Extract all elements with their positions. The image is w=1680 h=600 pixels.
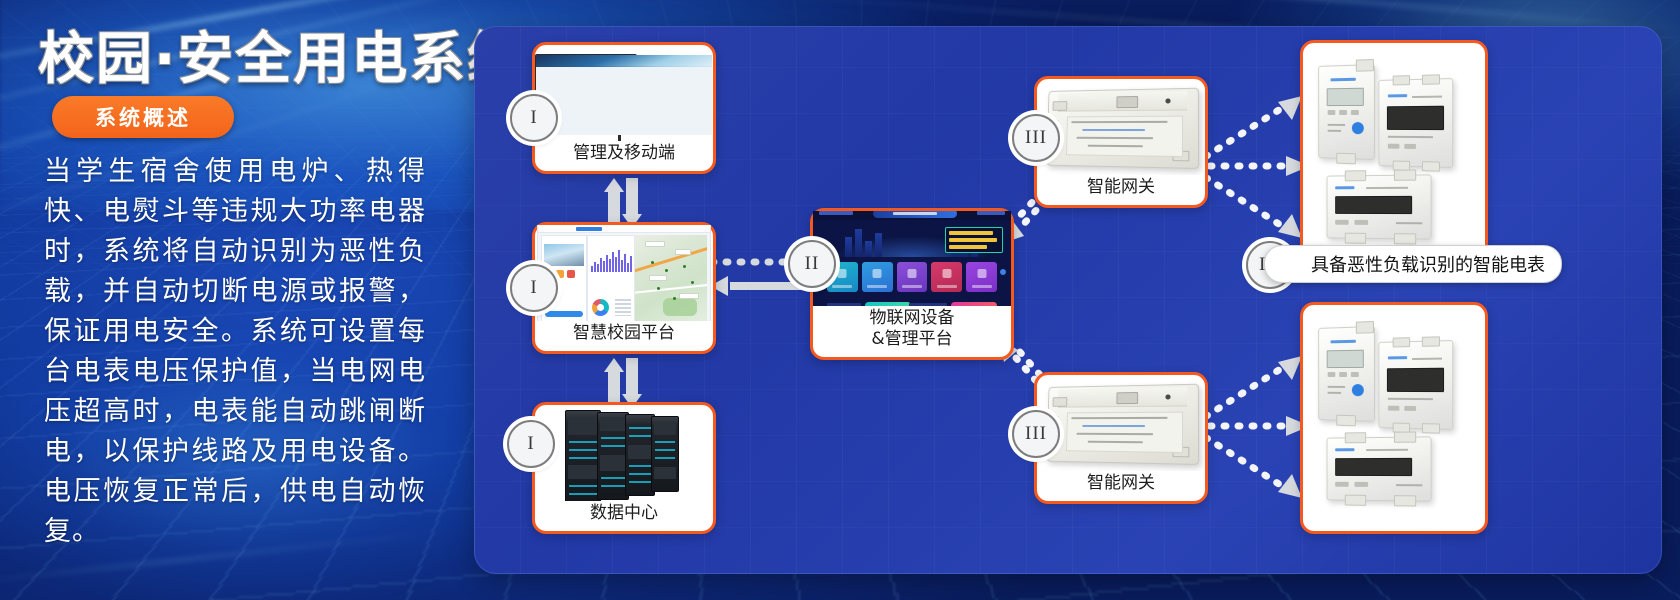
intro-panel: 校园·安全用电系统 系统概述 当学生宿舍使用电炉、热得快、电熨斗等违规大功率电器… xyxy=(0,0,470,600)
node-smart-campus-platform[interactable]: 智慧校园平台 xyxy=(532,222,716,354)
smart-meters-top-thumbnail xyxy=(1303,43,1485,269)
marker-data-center: I xyxy=(507,420,555,468)
node-iot-platform-label: 物联网设备 &管理平台 xyxy=(813,306,1011,357)
smart-gateway-top-thumbnail xyxy=(1037,79,1205,175)
iot-dashboard-icon xyxy=(813,211,1011,306)
smart-meters-icon xyxy=(1303,47,1485,269)
marker-iot-platform: II xyxy=(788,240,836,288)
gateway-device-icon xyxy=(1037,377,1205,471)
marker-smart-gateway-bottom: III xyxy=(1012,410,1060,458)
architecture-diagram: 管理及移动端 I xyxy=(474,26,1662,574)
node-smart-gateway-top-label: 智能网关 xyxy=(1037,175,1205,205)
management-mobile-thumbnail xyxy=(535,45,713,141)
node-smart-campus-platform-label: 智慧校园平台 xyxy=(535,321,713,351)
page-title: 校园·安全用电系统 xyxy=(38,14,525,95)
smart-meters-bottom-thumbnail xyxy=(1303,305,1485,531)
devices-screens-icon xyxy=(535,54,713,136)
marker-management-mobile: I xyxy=(510,94,558,142)
smart-meter-callout-badge[interactable]: 具备恶性负载识别的智能电表 xyxy=(1264,245,1562,283)
marker-smart-gateway-top: III xyxy=(1012,114,1060,162)
server-racks-icon xyxy=(549,405,699,501)
node-smart-meters-top[interactable] xyxy=(1300,40,1488,272)
campus-dashboard-icon xyxy=(537,225,711,321)
smart-campus-thumbnail xyxy=(535,225,713,321)
node-smart-gateway-bottom-label: 智能网关 xyxy=(1037,471,1205,501)
overview-paragraph: 当学生宿舍使用电炉、热得快、电熨斗等违规大功率电器时，系统将自动识别为恶性负载，… xyxy=(44,152,426,552)
marker-smart-campus-platform: I xyxy=(510,264,558,312)
node-management-mobile[interactable]: 管理及移动端 xyxy=(532,42,716,174)
system-overview-badge-label: 系统概述 xyxy=(95,102,191,132)
iot-platform-thumbnail xyxy=(813,211,1011,306)
node-smart-gateway-bottom[interactable]: 智能网关 xyxy=(1034,372,1208,504)
node-data-center-label: 数据中心 xyxy=(535,501,713,531)
system-overview-badge: 系统概述 xyxy=(52,96,234,138)
node-data-center[interactable]: 数据中心 xyxy=(532,402,716,534)
smart-meter-callout-label: 具备恶性负载识别的智能电表 xyxy=(1311,251,1545,277)
node-iot-platform[interactable]: 物联网设备 &管理平台 xyxy=(810,208,1014,360)
data-center-thumbnail xyxy=(535,405,713,501)
smart-gateway-bottom-thumbnail xyxy=(1037,375,1205,471)
smart-meters-icon xyxy=(1303,309,1485,531)
node-smart-meters-bottom[interactable] xyxy=(1300,302,1488,534)
node-smart-gateway-top[interactable]: 智能网关 xyxy=(1034,76,1208,208)
node-management-mobile-label: 管理及移动端 xyxy=(535,141,713,171)
gateway-device-icon xyxy=(1037,81,1205,175)
